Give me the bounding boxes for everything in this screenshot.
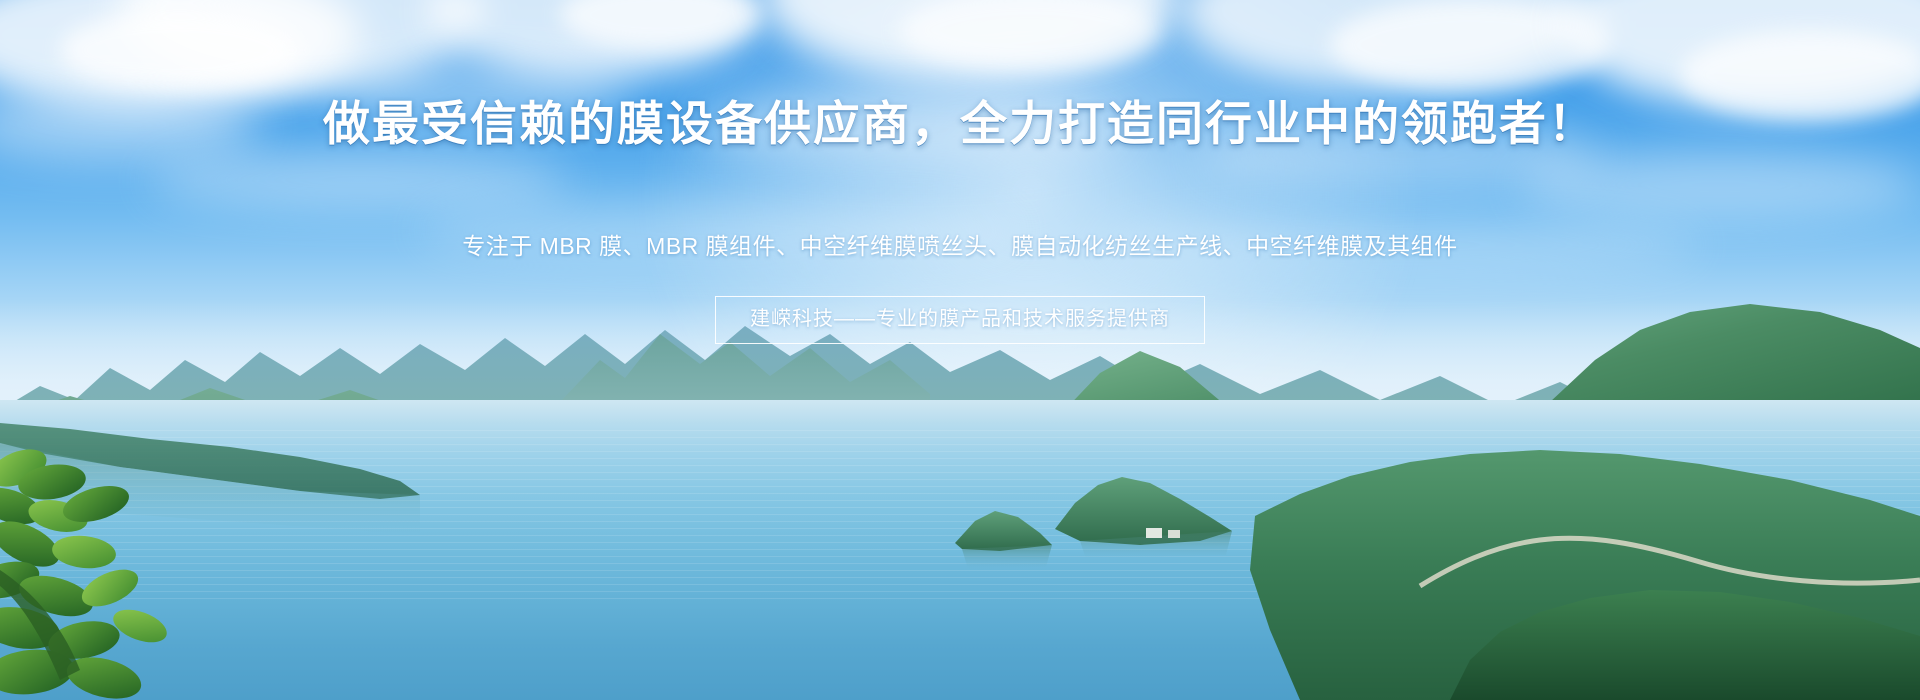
banner-subheadline: 专注于 MBR 膜、MBR 膜组件、中空纤维膜喷丝头、膜自动化纺丝生产线、中空纤… bbox=[0, 232, 1920, 260]
banner-content: 做最受信赖的膜设备供应商，全力打造同行业中的领跑者！ 专注于 MBR 膜、MBR… bbox=[0, 0, 1920, 700]
banner-tagline-wrapper: 建嵘科技——专业的膜产品和技术服务提供商 bbox=[0, 296, 1920, 344]
hero-banner: 做最受信赖的膜设备供应商，全力打造同行业中的领跑者！ 专注于 MBR 膜、MBR… bbox=[0, 0, 1920, 700]
banner-headline: 做最受信赖的膜设备供应商，全力打造同行业中的领跑者！ bbox=[0, 100, 1920, 150]
banner-tagline: 建嵘科技——专业的膜产品和技术服务提供商 bbox=[715, 296, 1205, 344]
